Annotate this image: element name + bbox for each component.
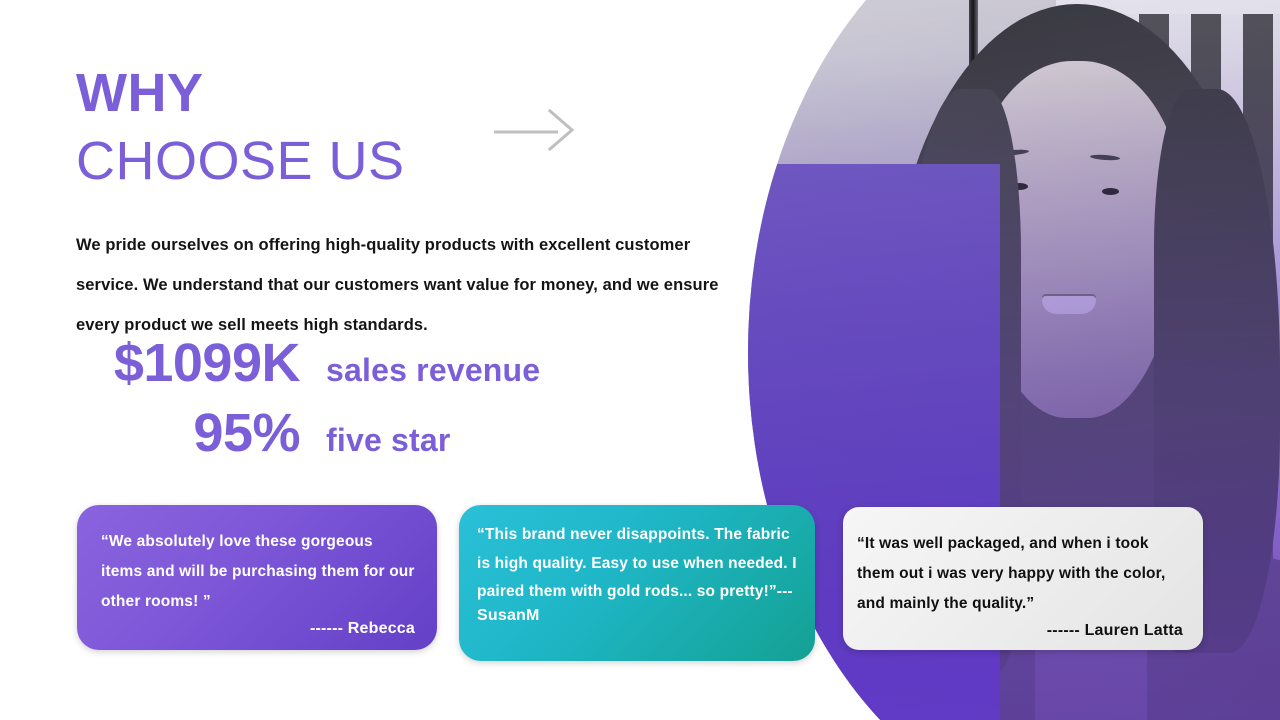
slide-canvas: WHY CHOOSE US We pride ourselves on offe… (0, 0, 1280, 720)
stat-value-five-star: 95% (48, 402, 300, 464)
intro-paragraph: We pride ourselves on offering high-qual… (76, 225, 748, 346)
testimonial-author-rebecca: ------ Rebecca (101, 620, 415, 638)
stat-row-five-star: 95% five star (48, 402, 688, 464)
stat-row-sales-revenue: $1099K sales revenue (48, 332, 688, 394)
testimonial-author-lauren-latta: ------ Lauren Latta (857, 622, 1185, 640)
page-title: WHY CHOOSE US (76, 66, 405, 188)
stat-value-sales-revenue: $1099K (48, 332, 300, 394)
page-title-line-2: CHOOSE US (76, 134, 405, 188)
stat-label-sales-revenue: sales revenue (326, 352, 540, 389)
stat-label-five-star: five star (326, 422, 451, 459)
page-title-line-1: WHY (76, 66, 405, 120)
testimonial-card-rebecca: “We absolutely love these gorgeous items… (77, 505, 437, 650)
testimonial-card-lauren-latta: “It was well packaged, and when i took t… (843, 507, 1203, 650)
testimonial-card-susanm: “This brand never disappoints. The fabri… (459, 505, 815, 661)
testimonial-quote-lauren-latta: “It was well packaged, and when i took t… (857, 535, 1165, 612)
arrow-right-icon (492, 108, 580, 152)
testimonial-quote-rebecca: “We absolutely love these gorgeous items… (101, 533, 415, 610)
testimonial-author-susanm: SusanM (477, 607, 540, 624)
stats-group: $1099K sales revenue 95% five star (48, 332, 688, 464)
testimonial-quote-susanm: “This brand never disappoints. The fabri… (477, 526, 797, 600)
